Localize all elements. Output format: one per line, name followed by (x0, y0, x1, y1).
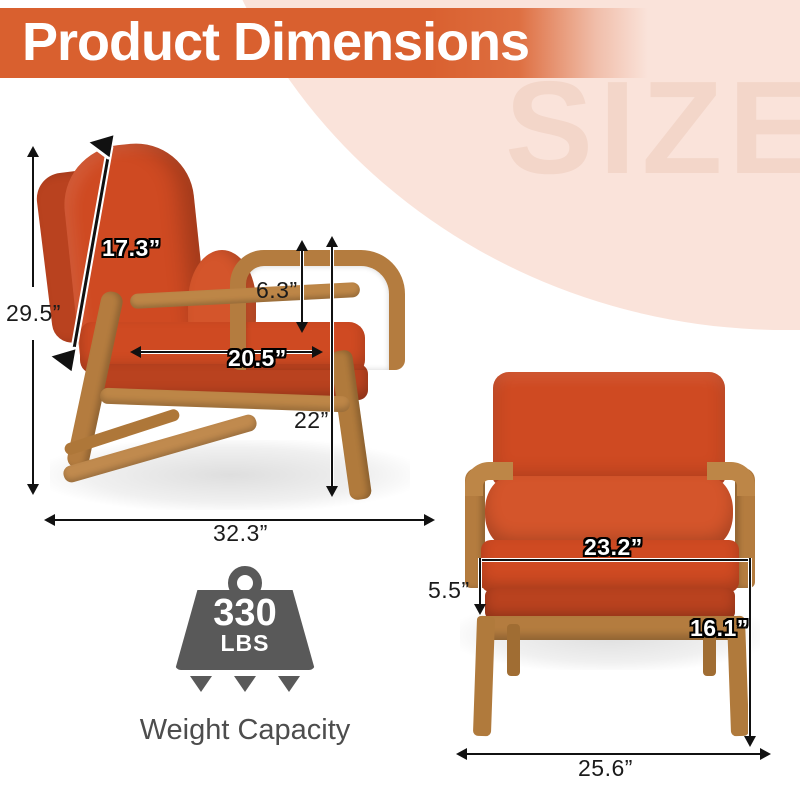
size-watermark: SIZE (505, 62, 800, 194)
cushion-thickness-label: 5.5” (428, 577, 470, 604)
armrest-clearance-tip-top (296, 240, 308, 251)
seat-height-arrow (748, 558, 752, 740)
overall-height-arrow-tip-top (27, 146, 39, 157)
front-left-rear-leg (507, 624, 520, 676)
weight-arrow-triangle-3 (278, 676, 300, 692)
arm-height-label: 22” (294, 407, 329, 434)
front-right-arm-curve (707, 462, 755, 496)
weight-capacity-caption: Weight Capacity (120, 714, 370, 747)
weight-capacity-badge: 330 LBS Weight Capacity (120, 562, 370, 762)
weight-arrow-triangle-1 (190, 676, 212, 692)
arm-height-arrow (330, 244, 334, 490)
overall-width-tip-left (456, 748, 467, 760)
seat-depth-tip-left (130, 346, 141, 358)
armrest-clearance-arrow (300, 248, 304, 326)
overall-width-tip-right (760, 748, 771, 760)
overall-height-label: 29.5” (6, 300, 61, 327)
overall-depth-label: 32.3” (213, 520, 268, 547)
armrest-clearance-tip-bottom (296, 322, 308, 333)
overall-width-label: 25.6” (578, 755, 633, 782)
front-left-front-leg (473, 616, 495, 737)
overall-height-arrow-upper (32, 152, 34, 287)
front-back-cushion (493, 372, 725, 484)
overall-height-arrow-lower (32, 340, 34, 486)
page-title: Product Dimensions (22, 12, 529, 72)
front-left-arm-curve (465, 462, 513, 496)
backrest-height-label: 17.3” (102, 235, 161, 262)
seat-height-tip-bottom (744, 736, 756, 747)
seat-depth-tip-right (312, 346, 323, 358)
overall-height-arrow-tip-bottom (27, 484, 39, 495)
weight-arrow-triangle-2 (234, 676, 256, 692)
arm-height-tip-bottom (326, 486, 338, 497)
weight-capacity-number: 330 (175, 594, 315, 632)
weight-capacity-unit: LBS (175, 632, 315, 655)
seat-height-label: 16.1” (690, 615, 749, 642)
seat-width-left-tip (474, 604, 486, 615)
seat-width-left-tick (478, 558, 482, 608)
armrest-clearance-label: 6.3” (256, 277, 298, 304)
seat-width-label: 23.2” (584, 534, 643, 561)
product-dimensions-infographic: SIZE Product Dimensions 29.5” (0, 0, 800, 800)
arm-height-tip-top (326, 236, 338, 247)
seat-depth-label: 20.5” (228, 345, 287, 372)
overall-depth-tip-right (424, 514, 435, 526)
overall-depth-tip-left (44, 514, 55, 526)
